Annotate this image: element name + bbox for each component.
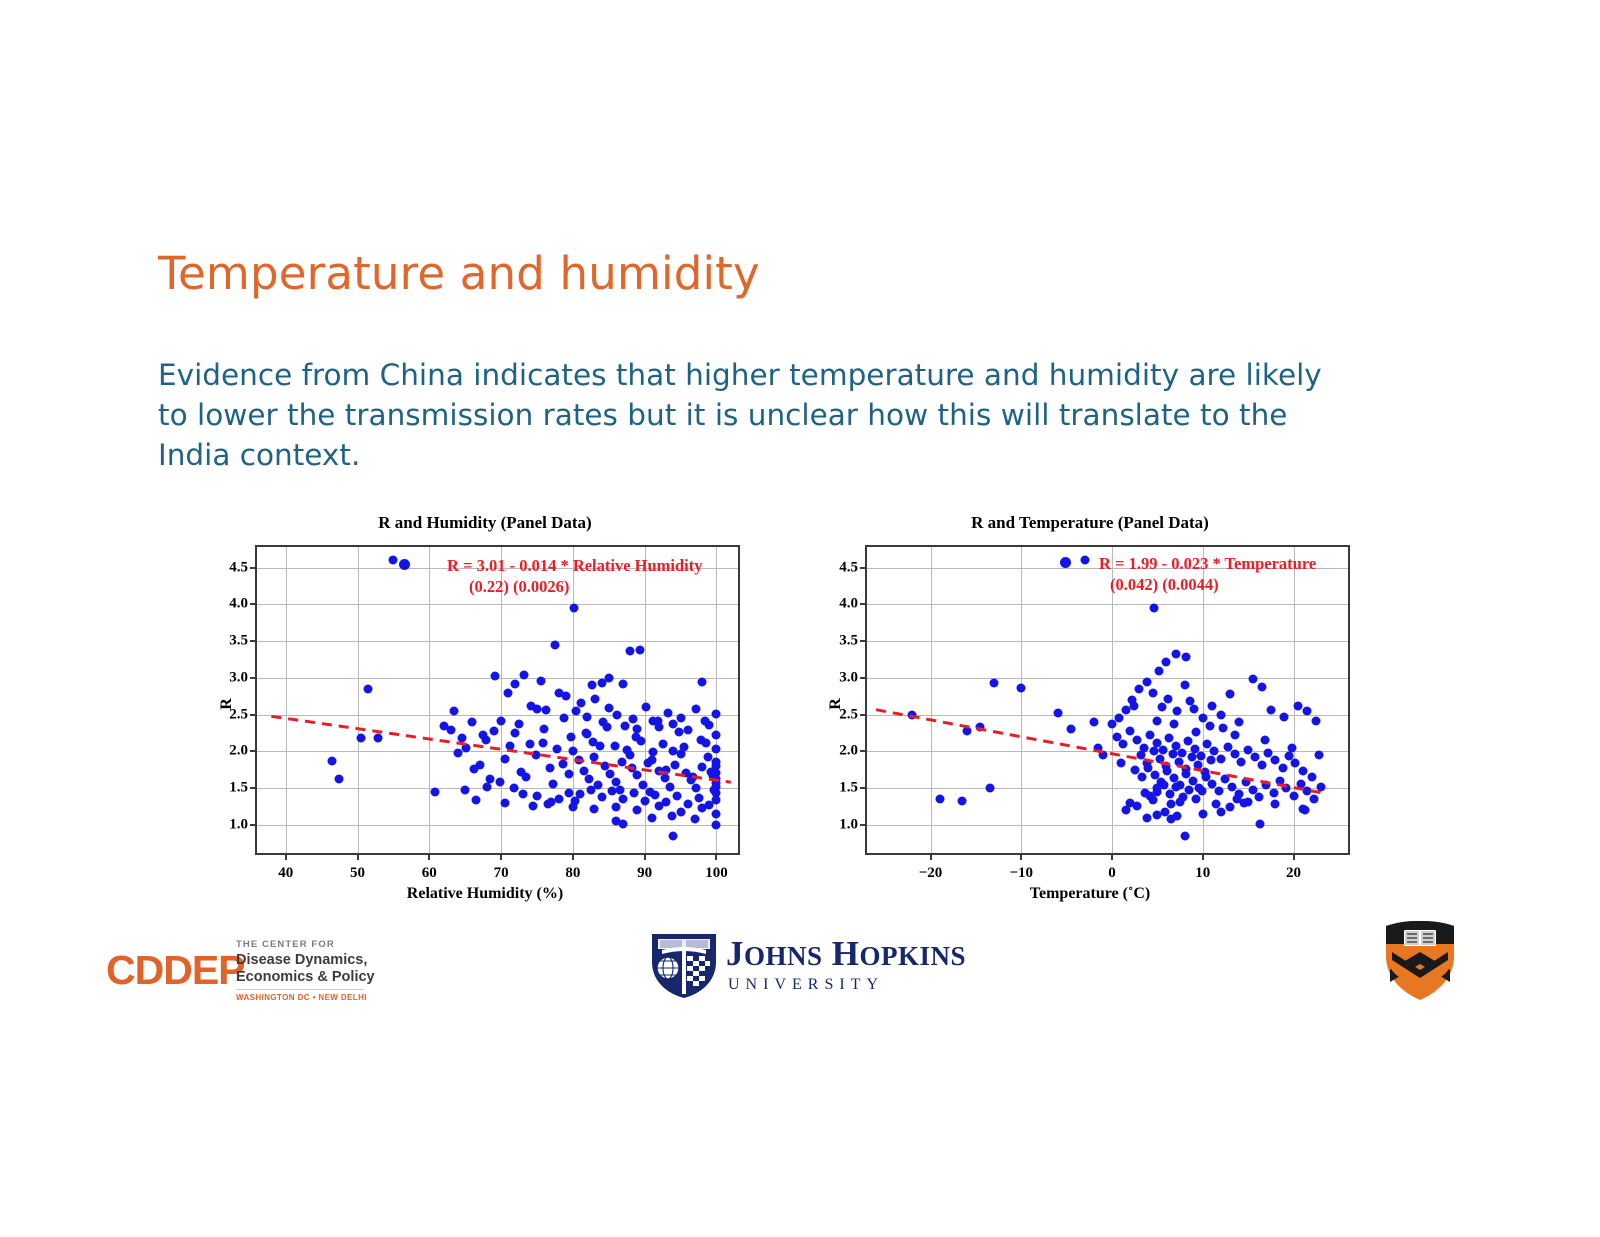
x-axis-label-temperature: Temperature (˚C) — [820, 885, 1360, 903]
y-axis-tick-mark — [250, 603, 257, 605]
y-axis-tick-label: 2.5 — [839, 706, 858, 723]
y-axis-tick-label: 2.0 — [839, 743, 858, 760]
johns-hopkins-subtitle: UNIVERSITY — [728, 976, 884, 994]
x-axis-tick-mark — [1202, 853, 1204, 860]
x-axis-label-humidity: Relative Humidity (%) — [215, 885, 755, 903]
trend-line-temperature — [867, 547, 1348, 853]
x-axis-tick-mark — [428, 853, 430, 860]
x-axis-tick-mark — [357, 853, 359, 860]
y-axis-tick-label: 3.5 — [839, 633, 858, 650]
y-axis-tick-mark — [250, 677, 257, 679]
y-axis-tick-mark — [860, 787, 867, 789]
x-axis-tick-mark — [715, 853, 717, 860]
x-axis-tick-mark — [572, 853, 574, 860]
equation-line1-humidity: R = 3.01 - 0.014 * Relative Humidity — [447, 555, 703, 576]
plot-area-humidity: 1.01.52.02.53.03.54.04.5405060708090100 … — [255, 545, 740, 855]
x-axis-tick-label: 40 — [278, 865, 293, 882]
x-axis-tick-label: 100 — [705, 865, 728, 882]
y-axis-tick-mark — [860, 750, 867, 752]
y-axis-tick-mark — [860, 714, 867, 716]
y-axis-tick-mark — [250, 714, 257, 716]
y-axis-tick-label: 1.0 — [839, 817, 858, 834]
x-axis-tick-mark — [1293, 853, 1295, 860]
y-axis-tick-label: 4.5 — [229, 559, 248, 576]
y-axis-tick-mark — [250, 750, 257, 752]
x-axis-tick-label: 20 — [1286, 865, 1301, 882]
equation-line2-humidity: (0.22) (0.0026) — [469, 576, 569, 597]
y-axis-tick-mark — [860, 603, 867, 605]
regression-trend-line — [271, 716, 730, 782]
x-axis-tick-mark — [285, 853, 287, 860]
chart-humidity: R and Humidity (Panel Data) R 1.01.52.02… — [215, 505, 755, 905]
y-axis-tick-mark — [250, 787, 257, 789]
y-axis-tick-label: 1.0 — [229, 817, 248, 834]
page-title: Temperature and humidity — [158, 247, 760, 300]
jhu-j: J — [726, 934, 744, 973]
cddep-locations: WASHINGTON DC • NEW DELHI — [236, 993, 367, 1002]
cddep-logo: CDDEP THE CENTER FOR Disease Dynamics, E… — [100, 925, 375, 1005]
y-axis-tick-mark — [860, 677, 867, 679]
cddep-wordmark: CDDEP — [106, 947, 245, 994]
y-axis-tick-label: 3.0 — [839, 669, 858, 686]
jhu-opkins: OPKINS — [860, 941, 967, 971]
y-axis-tick-mark — [250, 567, 257, 569]
x-axis-tick-mark — [1111, 853, 1113, 860]
chart-title-humidity: R and Humidity (Panel Data) — [215, 513, 755, 533]
y-axis-tick-label: 3.0 — [229, 669, 248, 686]
y-axis-tick-mark — [860, 824, 867, 826]
chart-title-temperature: R and Temperature (Panel Data) — [820, 513, 1360, 533]
x-axis-tick-label: 10 — [1195, 865, 1210, 882]
cddep-divider — [236, 989, 364, 990]
x-axis-tick-label: 80 — [565, 865, 580, 882]
johns-hopkins-shield-icon — [648, 928, 720, 1000]
princeton-shield-icon — [1378, 920, 1462, 1002]
jhu-ohns: OHNS — [744, 941, 823, 971]
y-axis-tick-label: 4.0 — [839, 596, 858, 613]
y-axis-tick-label: 4.0 — [229, 596, 248, 613]
y-axis-tick-label: 2.5 — [229, 706, 248, 723]
jhu-h: H — [832, 934, 860, 973]
x-axis-tick-label: −10 — [1010, 865, 1034, 882]
regression-trend-line — [876, 710, 1325, 794]
johns-hopkins-wordmark: JOHNS HOPKINS — [726, 934, 966, 974]
legend-marker-temperature — [1060, 557, 1071, 568]
y-axis-tick-mark — [250, 824, 257, 826]
cddep-tagline-small: THE CENTER FOR — [236, 939, 335, 950]
x-axis-tick-label: 60 — [422, 865, 437, 882]
slide-root: Temperature and humidity Evidence from C… — [0, 0, 1600, 1237]
x-axis-tick-mark — [500, 853, 502, 860]
princeton-logo — [1378, 920, 1462, 1002]
y-axis-tick-mark — [250, 640, 257, 642]
x-axis-tick-label: 70 — [494, 865, 509, 882]
plot-area-temperature: 1.01.52.02.53.03.54.04.5−20−1001020 R = … — [865, 545, 1350, 855]
equation-line2-temperature: (0.042) (0.0044) — [1110, 574, 1219, 595]
x-axis-tick-mark — [1020, 853, 1022, 860]
chart-temperature: R and Temperature (Panel Data) R 1.01.52… — [820, 505, 1360, 905]
johns-hopkins-logo: JOHNS HOPKINS UNIVERSITY — [648, 928, 948, 1000]
x-axis-tick-label: 0 — [1108, 865, 1116, 882]
y-axis-tick-label: 1.5 — [229, 780, 248, 797]
y-axis-tick-label: 4.5 — [839, 559, 858, 576]
x-axis-tick-mark — [644, 853, 646, 860]
x-axis-tick-label: 50 — [350, 865, 365, 882]
slide-body-text: Evidence from China indicates that highe… — [158, 355, 1348, 475]
y-axis-tick-label: 2.0 — [229, 743, 248, 760]
y-axis-tick-mark — [860, 640, 867, 642]
y-axis-tick-label: 1.5 — [839, 780, 858, 797]
y-axis-tick-label: 3.5 — [229, 633, 248, 650]
x-axis-tick-label: −20 — [919, 865, 943, 882]
x-axis-tick-mark — [930, 853, 932, 860]
x-axis-tick-label: 90 — [637, 865, 652, 882]
equation-line1-temperature: R = 1.99 - 0.023 * Temperature — [1099, 553, 1316, 574]
y-axis-tick-mark — [860, 567, 867, 569]
legend-marker-humidity — [399, 559, 410, 570]
cddep-tagline-main: Disease Dynamics, Economics & Policy — [236, 952, 375, 986]
